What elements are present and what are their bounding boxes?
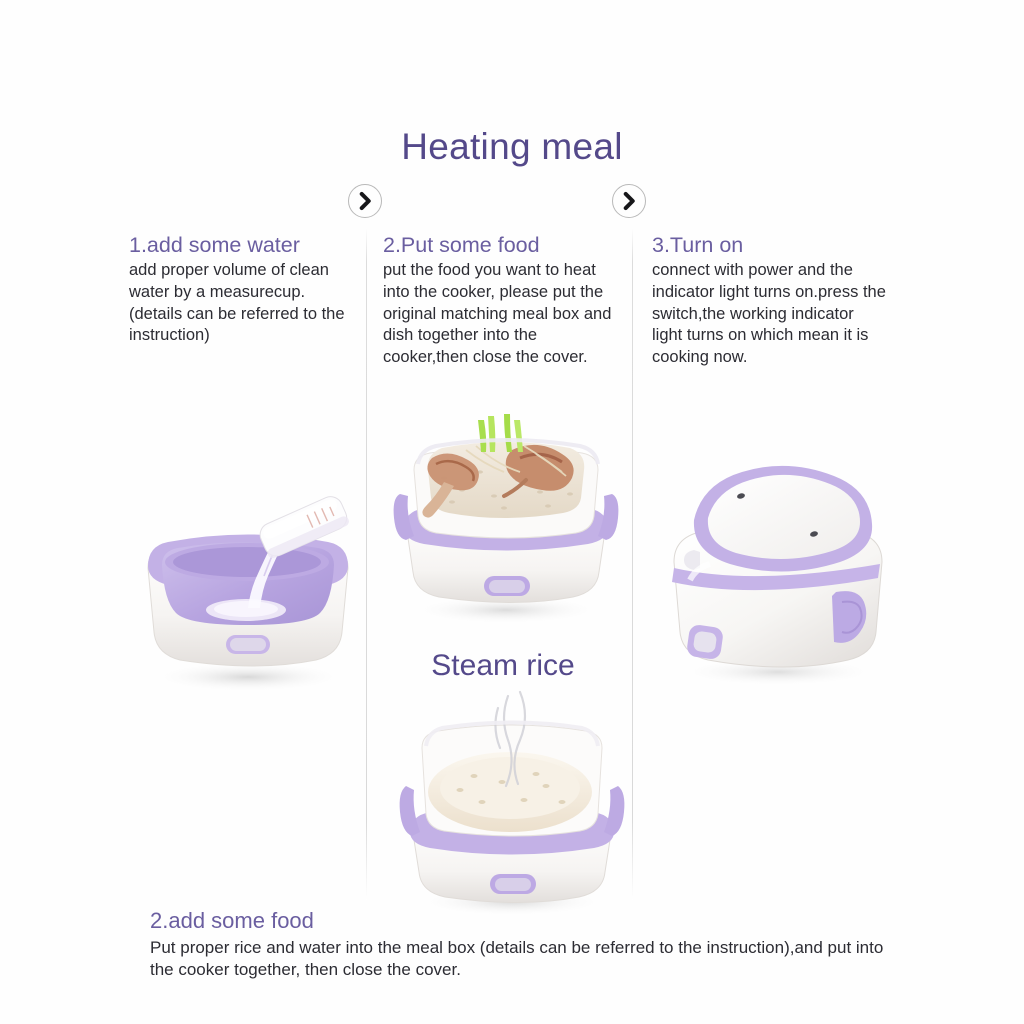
- step-1-heading: 1.add some water: [129, 233, 351, 258]
- product-image-steam-rice: [390, 690, 634, 920]
- section-title-steam-rice: Steam rice: [383, 649, 623, 683]
- step-3-heading: 3.Turn on: [652, 233, 887, 258]
- chevron-right-icon: [348, 184, 382, 218]
- step-column-2: 2.Put some food put the food you want to…: [383, 233, 623, 369]
- page-title: Heating meal: [0, 126, 1024, 168]
- product-image-put-food: [384, 398, 628, 630]
- step-2-heading: 2.Put some food: [383, 233, 623, 258]
- chevron-right-icon: [612, 184, 646, 218]
- step-column-1: 1.add some water add proper volume of cl…: [129, 233, 351, 347]
- step-1-body: add proper volume of clean water by a me…: [129, 260, 351, 347]
- product-image-add-water: [126, 462, 370, 696]
- step-column-3: 3.Turn on connect with power and the ind…: [652, 233, 887, 369]
- infographic-page: Heating meal 1.add some water add proper…: [0, 0, 1024, 1024]
- footer-body: Put proper rice and water into the meal …: [150, 937, 910, 981]
- footer-step-block: 2.add some food Put proper rice and wate…: [150, 908, 910, 981]
- step-3-body: connect with power and the indicator lig…: [652, 260, 887, 369]
- product-image-turn-on: [650, 440, 904, 690]
- step-2-body: put the food you want to heat into the c…: [383, 260, 623, 369]
- footer-heading: 2.add some food: [150, 908, 910, 934]
